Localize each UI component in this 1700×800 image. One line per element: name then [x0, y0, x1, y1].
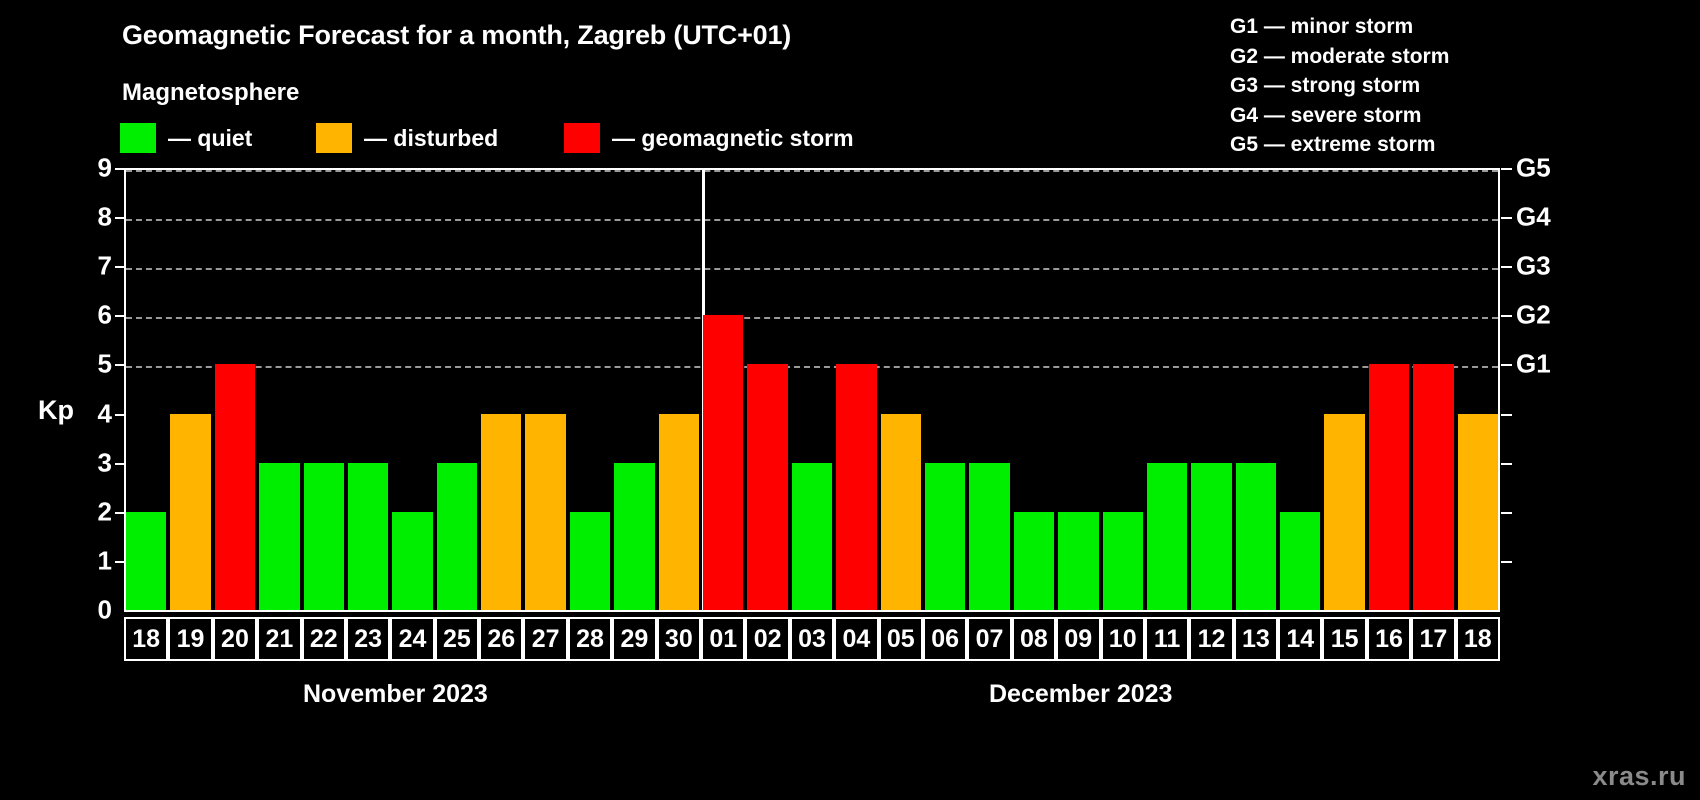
month-caption-november: November 2023 — [303, 680, 488, 709]
day-label-17-29[interactable]: 17 — [1411, 617, 1455, 661]
bar-day-01[interactable] — [703, 315, 743, 610]
g-axis-label-G5: G5 — [1516, 153, 1551, 184]
day-label-18-30[interactable]: 18 — [1456, 617, 1500, 661]
bar-day-14[interactable] — [1280, 512, 1320, 610]
y-tick-label-0: 0 — [82, 595, 112, 626]
bar-day-28[interactable] — [570, 512, 610, 610]
bar-day-07[interactable] — [969, 463, 1009, 610]
bar-day-08[interactable] — [1014, 512, 1054, 610]
day-label-02-14[interactable]: 02 — [745, 617, 789, 661]
day-label-14-26[interactable]: 14 — [1278, 617, 1322, 661]
bar-day-20[interactable] — [215, 364, 255, 610]
bar-day-29[interactable] — [614, 463, 654, 610]
g-axis-tick-G5 — [1501, 168, 1512, 170]
bar-day-17[interactable] — [1413, 364, 1453, 610]
watermark: xras.ru — [1592, 761, 1686, 792]
bars-layer — [124, 168, 1500, 610]
geomagnetic-forecast-chart: Geomagnetic Forecast for a month, Zagreb… — [0, 0, 1700, 800]
bar-day-24[interactable] — [392, 512, 432, 610]
bar-day-22[interactable] — [304, 463, 344, 610]
legend-label-disturbed: — disturbed — [364, 125, 498, 152]
legend-swatch-quiet-icon — [120, 123, 156, 153]
y-tick-label-6: 6 — [82, 300, 112, 331]
day-label-20-2[interactable]: 20 — [213, 617, 257, 661]
y-tick-mark-3 — [115, 463, 126, 465]
day-label-19-1[interactable]: 19 — [168, 617, 212, 661]
g-axis-tick-G1 — [1501, 364, 1512, 366]
day-label-23-5[interactable]: 23 — [346, 617, 390, 661]
y-tick-mark-7 — [115, 266, 126, 268]
legend-item-storm: — geomagnetic storm — [564, 122, 854, 154]
day-label-04-16[interactable]: 04 — [834, 617, 878, 661]
bar-day-21[interactable] — [259, 463, 299, 610]
bar-day-03[interactable] — [792, 463, 832, 610]
g-axis-tick-G2 — [1501, 315, 1512, 317]
g-legend-line-2: G2 — moderate storm — [1230, 42, 1449, 72]
day-label-05-17[interactable]: 05 — [879, 617, 923, 661]
g-axis-label-G4: G4 — [1516, 202, 1551, 233]
g-legend-line-4: G4 — severe storm — [1230, 101, 1449, 131]
bar-day-27[interactable] — [525, 414, 565, 610]
g-axis-label-G1: G1 — [1516, 349, 1551, 380]
bar-day-11[interactable] — [1147, 463, 1187, 610]
legend-label-storm: — geomagnetic storm — [612, 125, 854, 152]
g-axis-label-G2: G2 — [1516, 300, 1551, 331]
day-label-18-0[interactable]: 18 — [124, 617, 168, 661]
g-scale-legend: G1 — minor stormG2 — moderate stormG3 — … — [1230, 12, 1449, 160]
g-axis-tick-G3 — [1501, 266, 1512, 268]
bar-day-25[interactable] — [437, 463, 477, 610]
day-label-25-7[interactable]: 25 — [435, 617, 479, 661]
bar-day-19[interactable] — [170, 414, 210, 610]
y-tick-mark-8 — [115, 217, 126, 219]
y-tick-mark-4 — [115, 414, 126, 416]
day-label-16-28[interactable]: 16 — [1367, 617, 1411, 661]
bar-day-09[interactable] — [1058, 512, 1098, 610]
g-axis-tick-minor-1 — [1501, 561, 1512, 563]
y-tick-mark-9 — [115, 168, 126, 170]
day-label-15-27[interactable]: 15 — [1322, 617, 1366, 661]
y-tick-label-5: 5 — [82, 349, 112, 380]
y-tick-label-8: 8 — [82, 202, 112, 233]
y-tick-label-3: 3 — [82, 447, 112, 478]
y-axis-label: Kp — [38, 395, 74, 426]
bar-day-10[interactable] — [1103, 512, 1143, 610]
y-tick-mark-5 — [115, 364, 126, 366]
g-legend-line-3: G3 — strong storm — [1230, 71, 1449, 101]
day-label-10-22[interactable]: 10 — [1101, 617, 1145, 661]
legend-swatch-storm-icon — [564, 123, 600, 153]
day-label-29-11[interactable]: 29 — [612, 617, 656, 661]
day-label-09-21[interactable]: 09 — [1056, 617, 1100, 661]
bar-day-26[interactable] — [481, 414, 521, 610]
bar-day-23[interactable] — [348, 463, 388, 610]
bar-day-05[interactable] — [881, 414, 921, 610]
bar-day-06[interactable] — [925, 463, 965, 610]
day-label-22-4[interactable]: 22 — [302, 617, 346, 661]
bar-day-16[interactable] — [1369, 364, 1409, 610]
day-label-11-23[interactable]: 11 — [1145, 617, 1189, 661]
bar-day-18[interactable] — [1458, 414, 1498, 610]
y-tick-label-2: 2 — [82, 496, 112, 527]
g-legend-line-1: G1 — minor storm — [1230, 12, 1449, 42]
day-label-07-19[interactable]: 07 — [967, 617, 1011, 661]
day-label-08-20[interactable]: 08 — [1012, 617, 1056, 661]
y-tick-mark-1 — [115, 561, 126, 563]
bar-day-02[interactable] — [747, 364, 787, 610]
day-label-27-9[interactable]: 27 — [523, 617, 567, 661]
legend-item-quiet: — quiet — [120, 122, 252, 154]
legend-item-disturbed: — disturbed — [316, 122, 498, 154]
g-axis-label-G3: G3 — [1516, 251, 1551, 282]
day-label-13-25[interactable]: 13 — [1234, 617, 1278, 661]
day-label-24-6[interactable]: 24 — [390, 617, 434, 661]
bar-day-18[interactable] — [126, 512, 166, 610]
y-tick-mark-6 — [115, 315, 126, 317]
bar-day-04[interactable] — [836, 364, 876, 610]
g-axis-tick-minor-3 — [1501, 463, 1512, 465]
bar-day-15[interactable] — [1324, 414, 1364, 610]
day-label-12-24[interactable]: 12 — [1189, 617, 1233, 661]
y-tick-mark-2 — [115, 512, 126, 514]
bar-day-30[interactable] — [659, 414, 699, 610]
magnetosphere-legend: — quiet— disturbed— geomagnetic storm — [120, 122, 1020, 154]
day-label-28-10[interactable]: 28 — [568, 617, 612, 661]
day-label-26-8[interactable]: 26 — [479, 617, 523, 661]
y-tick-label-9: 9 — [82, 153, 112, 184]
y-tick-label-7: 7 — [82, 251, 112, 282]
g-axis-tick-minor-2 — [1501, 512, 1512, 514]
day-label-01-13[interactable]: 01 — [701, 617, 745, 661]
day-label-21-3[interactable]: 21 — [257, 617, 301, 661]
legend-heading: Magnetosphere — [122, 79, 299, 107]
day-label-30-12[interactable]: 30 — [657, 617, 701, 661]
y-tick-label-1: 1 — [82, 545, 112, 576]
bar-day-13[interactable] — [1236, 463, 1276, 610]
g-legend-line-5: G5 — extreme storm — [1230, 130, 1449, 160]
day-label-03-15[interactable]: 03 — [790, 617, 834, 661]
y-tick-label-4: 4 — [82, 398, 112, 429]
legend-swatch-disturbed-icon — [316, 123, 352, 153]
bar-day-12[interactable] — [1191, 463, 1231, 610]
g-axis-tick-minor-4 — [1501, 414, 1512, 416]
month-caption-december: December 2023 — [989, 680, 1172, 709]
g-axis-tick-G4 — [1501, 217, 1512, 219]
day-label-06-18[interactable]: 06 — [923, 617, 967, 661]
page-title: Geomagnetic Forecast for a month, Zagreb… — [122, 20, 791, 51]
legend-label-quiet: — quiet — [168, 125, 252, 152]
